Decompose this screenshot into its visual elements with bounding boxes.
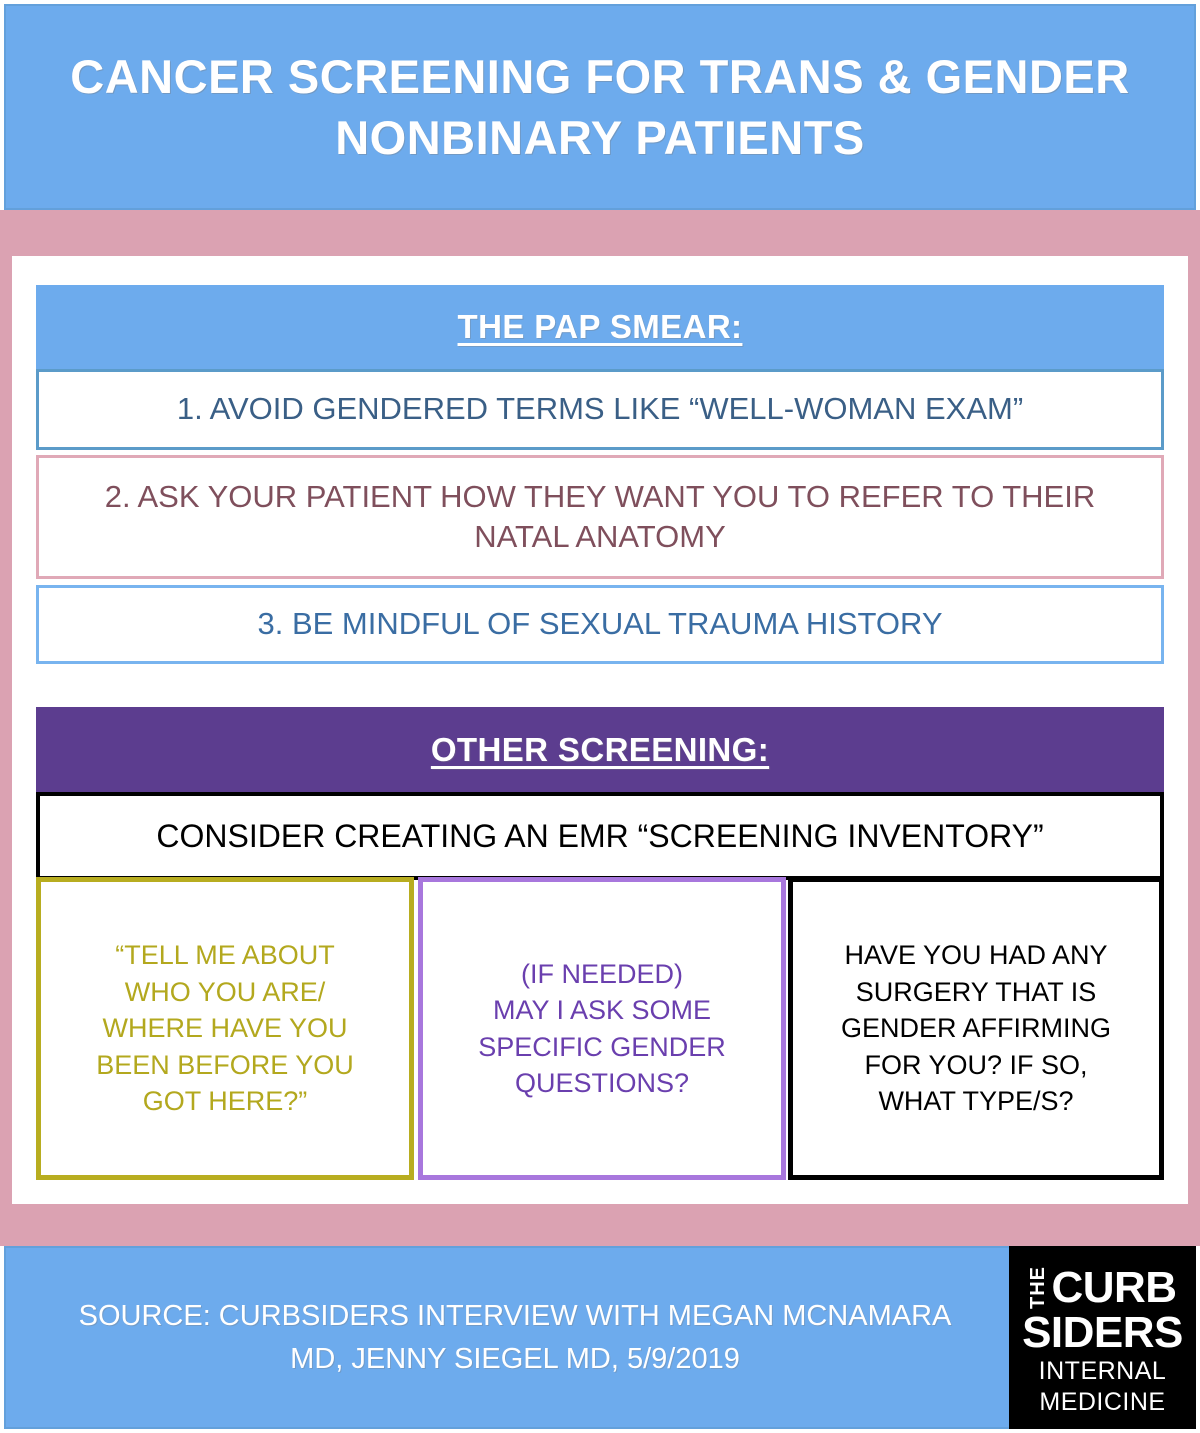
logo-curb-text: CURB: [1051, 1268, 1176, 1308]
emr-screening-inventory-note: CONSIDER CREATING AN EMR “SCREENING INVE…: [36, 792, 1164, 880]
frame-band-pink-top: [0, 210, 1200, 256]
section-header-other-screening: OTHER SCREENING:: [36, 707, 1164, 792]
infographic-poster: CANCER SCREENING FOR TRANS & GENDER NONB…: [0, 0, 1200, 1433]
section-header-pap-smear: THE PAP SMEAR:: [36, 285, 1164, 369]
frame-band-pink-bottom: [0, 1204, 1200, 1246]
title-banner: CANCER SCREENING FOR TRANS & GENDER NONB…: [4, 4, 1196, 210]
logo-the-text: THE: [1028, 1266, 1048, 1309]
pap-smear-item-1: 1. AVOID GENDERED TERMS LIKE “WELL-WOMAN…: [36, 369, 1164, 450]
pap-smear-item-3: 3. BE MINDFUL OF SEXUAL TRAUMA HISTORY: [36, 585, 1164, 664]
logo-siders-text: SIDERS: [1022, 1311, 1183, 1354]
logo-internal-text: INTERNAL: [1039, 1357, 1167, 1385]
page-title: CANCER SCREENING FOR TRANS & GENDER NONB…: [50, 46, 1150, 168]
footer-source-text: SOURCE: CURBSIDERS INTERVIEW WITH MEGAN …: [20, 1246, 1010, 1429]
curbsiders-logo: THE CURB SIDERS INTERNAL MEDICINE: [1009, 1246, 1196, 1429]
section-header-other-screening-label: OTHER SCREENING:: [431, 731, 769, 769]
question-box-gender-affirming-surgery: HAVE YOU HAD ANY SURGERY THAT IS GENDER …: [788, 877, 1164, 1180]
section-header-pap-smear-label: THE PAP SMEAR:: [458, 308, 743, 346]
pap-smear-item-2: 2. ASK YOUR PATIENT HOW THEY WANT YOU TO…: [36, 455, 1164, 579]
frame-band-pink-right: [1188, 210, 1200, 1223]
logo-row-the-curb: THE CURB: [1028, 1259, 1176, 1309]
question-box-tell-me-about-you: “TELL ME ABOUT WHO YOU ARE/ WHERE HAVE Y…: [36, 877, 414, 1180]
logo-medicine-text: MEDICINE: [1039, 1388, 1165, 1416]
frame-band-pink-left: [0, 210, 12, 1223]
question-box-gender-questions: (IF NEEDED) MAY I ASK SOME SPECIFIC GEND…: [418, 877, 786, 1180]
